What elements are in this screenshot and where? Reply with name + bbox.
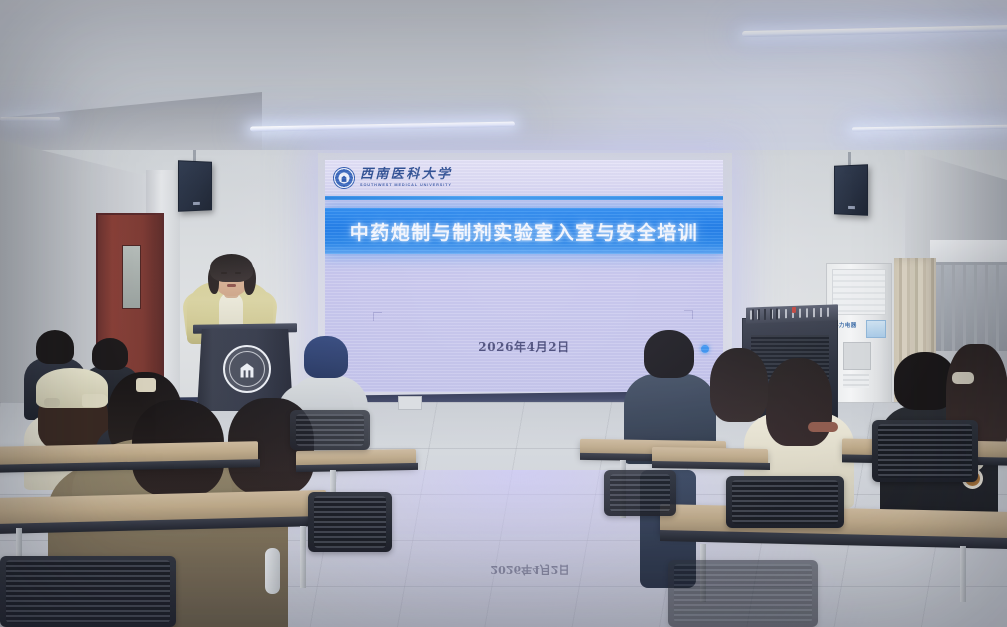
slide-corner-mark xyxy=(684,310,693,319)
hair-tie xyxy=(952,372,974,384)
student-behind-right xyxy=(710,348,768,428)
mixer-indicator xyxy=(792,307,796,313)
slide-header: 西南医科大学 SOUTHWEST MEDICAL UNIVERSITY xyxy=(325,160,723,196)
wall-speaker-right xyxy=(834,164,868,216)
window-with-railing xyxy=(930,262,1007,351)
water-bottle[interactable] xyxy=(265,548,280,594)
speaker-bracket xyxy=(848,152,851,166)
desk-leg xyxy=(300,526,306,588)
university-name-block: 西南医科大学 SOUTHWEST MEDICAL UNIVERSITY xyxy=(360,168,452,187)
wall-speaker-left xyxy=(178,160,212,212)
mixer-faders[interactable] xyxy=(752,308,778,320)
student-chair[interactable] xyxy=(290,410,370,450)
student-chair[interactable] xyxy=(604,470,676,516)
desk-leg xyxy=(960,546,966,602)
ceiling-linear-light xyxy=(0,117,60,121)
university-seal-icon xyxy=(333,167,355,189)
slide-title-banner: 中药炮制与制剂实验室入室与安全培训 xyxy=(325,208,723,254)
chair-backrest-slats xyxy=(314,496,386,548)
student-chair[interactable] xyxy=(872,420,978,482)
chair-backrest-slats xyxy=(610,474,670,512)
student-chair[interactable] xyxy=(308,492,392,552)
slide-corner-mark xyxy=(373,312,382,321)
slide-accent-rule xyxy=(325,196,723,200)
university-name-en: SOUTHWEST MEDICAL UNIVERSITY xyxy=(360,184,458,188)
university-name-cn: 西南医科大学 xyxy=(360,168,452,181)
chair-backrest-slats xyxy=(732,480,838,524)
chair-backrest-slats xyxy=(674,564,812,623)
speaker-badge xyxy=(193,202,200,205)
audio-mixer[interactable] xyxy=(746,304,838,323)
lecture-hall-scene: 西南医科大学 SOUTHWEST MEDICAL UNIVERSITY 中药炮制… xyxy=(0,0,1007,627)
ac-vent xyxy=(832,269,886,315)
student-chair[interactable] xyxy=(0,556,176,627)
university-seal-icon xyxy=(223,345,271,393)
cap-strap xyxy=(44,398,60,407)
hair-clip xyxy=(136,378,156,392)
slide-title: 中药炮制与制剂实验室入室与安全培训 xyxy=(350,218,699,245)
floor-date-reflection: 2026年4月2日 xyxy=(470,562,590,578)
chair-backrest-slats xyxy=(878,424,972,478)
door-vision-panel xyxy=(122,245,141,309)
presenter-mouth xyxy=(227,284,236,287)
hoodie-drawstring xyxy=(808,422,838,432)
chair-backrest-slats xyxy=(296,414,364,446)
presenter-hair xyxy=(210,254,253,282)
wall-outlet xyxy=(398,396,422,410)
speaker-badge xyxy=(848,206,855,209)
chair-backrest-slats xyxy=(6,560,170,623)
ac-energy-label xyxy=(866,320,886,338)
student-chair[interactable] xyxy=(726,476,844,528)
student-chair[interactable] xyxy=(668,560,818,627)
